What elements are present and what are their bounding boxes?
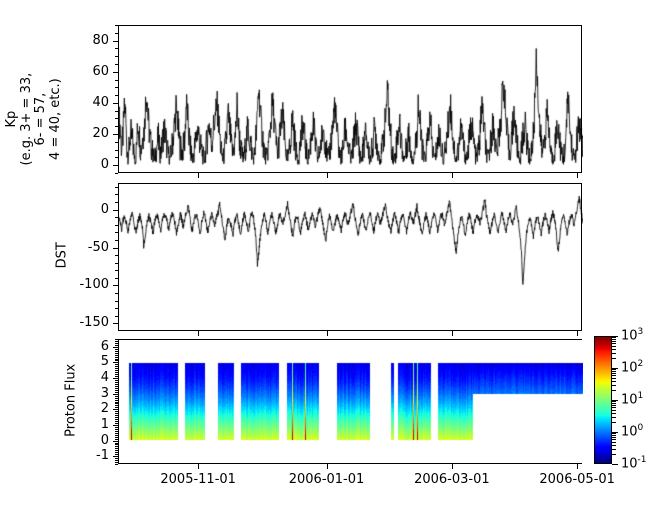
pf-y-tick bbox=[113, 394, 118, 395]
pf-y-minor bbox=[115, 443, 118, 444]
colorbar-minor-tick bbox=[612, 373, 616, 374]
pf-y-minor bbox=[115, 421, 118, 422]
colorbar-minor-tick bbox=[612, 346, 616, 347]
kp-y-minor bbox=[115, 95, 118, 96]
colorbar-minor-tick bbox=[612, 358, 616, 359]
colorbar-minor-tick bbox=[612, 439, 616, 440]
kp-y-minor bbox=[115, 48, 118, 49]
pf-y-minor bbox=[115, 405, 118, 406]
dst-y-minor bbox=[115, 293, 118, 294]
x-tick bbox=[327, 173, 328, 178]
pf-y-minor bbox=[115, 368, 118, 369]
dst-plot-panel bbox=[118, 183, 582, 331]
colorbar bbox=[594, 336, 612, 464]
colorbar-minor-tick bbox=[612, 445, 616, 446]
y-tick-label: 20 bbox=[61, 126, 109, 141]
kp-y-minor bbox=[115, 111, 118, 112]
kp-plot-panel bbox=[118, 25, 582, 173]
x-tick bbox=[452, 173, 453, 178]
colorbar-minor-tick bbox=[612, 417, 616, 418]
pf-y-minor bbox=[115, 423, 118, 424]
dst-y-minor bbox=[115, 263, 118, 264]
pf-y-minor bbox=[115, 411, 118, 412]
colorbar-minor-tick bbox=[612, 454, 616, 455]
pf-y-minor bbox=[115, 448, 118, 449]
kp-y-minor bbox=[115, 157, 118, 158]
kp-y-minor bbox=[115, 142, 118, 143]
pf-y-minor bbox=[115, 388, 118, 389]
pf-y-minor bbox=[115, 345, 118, 346]
colorbar-minor-tick bbox=[612, 381, 616, 382]
pf-y-minor bbox=[115, 413, 118, 414]
pf-y-minor bbox=[115, 417, 118, 418]
pf-y-tick bbox=[113, 409, 118, 410]
pf-y-minor bbox=[115, 437, 118, 438]
pf-y-minor bbox=[115, 384, 118, 385]
x-tick-label: 2006-05-01 bbox=[522, 472, 632, 487]
proton-flux-plot-panel bbox=[118, 339, 582, 464]
pf-y-minor bbox=[115, 454, 118, 455]
dst-y-minor bbox=[115, 308, 118, 309]
x-tick bbox=[198, 331, 199, 336]
colorbar-minor-tick bbox=[612, 353, 616, 354]
colorbar-minor-tick bbox=[612, 401, 616, 402]
y-tick-label: -100 bbox=[61, 277, 109, 292]
pf-y-tick bbox=[113, 362, 118, 363]
colorbar-minor-tick bbox=[612, 410, 616, 411]
colorbar-tick-label: 101 bbox=[621, 391, 643, 407]
pf-y-minor bbox=[115, 341, 118, 342]
colorbar-minor-tick bbox=[612, 337, 616, 338]
pf-y-minor bbox=[115, 439, 118, 440]
y-tick-label: 0 bbox=[61, 433, 109, 448]
colorbar-minor-tick bbox=[612, 369, 616, 370]
colorbar-minor-tick bbox=[612, 403, 616, 404]
y-tick-label: 60 bbox=[61, 64, 109, 79]
pf-y-minor bbox=[115, 392, 118, 393]
pf-y-minor bbox=[115, 435, 118, 436]
figure-root: Kp (e.g. 3+ = 33, 6- = 57, 4 = 40, etc.)… bbox=[0, 0, 665, 523]
dst-y-minor bbox=[115, 316, 118, 317]
y-tick-label: 40 bbox=[61, 95, 109, 110]
x-tick bbox=[577, 173, 578, 178]
pf-y-minor bbox=[115, 355, 118, 356]
kp-y-minor bbox=[115, 56, 118, 57]
kp-axis-label: Kp (e.g. 3+ = 33, 6- = 57, 4 = 40, etc.) bbox=[5, 44, 63, 194]
kp-y-tick bbox=[113, 134, 118, 135]
y-tick-label: 3 bbox=[61, 386, 109, 401]
pf-y-minor bbox=[115, 357, 118, 358]
pf-y-minor bbox=[115, 376, 118, 377]
colorbar-tick-label: 102 bbox=[621, 359, 643, 375]
y-tick-label: -50 bbox=[61, 240, 109, 255]
pf-y-minor bbox=[115, 419, 118, 420]
pf-y-minor bbox=[115, 351, 118, 352]
pf-y-minor bbox=[115, 431, 118, 432]
pf-y-tick bbox=[113, 425, 118, 426]
y-tick-label: 0 bbox=[61, 157, 109, 172]
dst-y-minor bbox=[115, 217, 118, 218]
pf-y-minor bbox=[115, 372, 118, 373]
colorbar-minor-tick bbox=[612, 378, 616, 379]
pf-y-minor bbox=[115, 427, 118, 428]
x-tick bbox=[452, 464, 453, 469]
colorbar-minor-tick bbox=[612, 437, 616, 438]
x-tick bbox=[577, 331, 578, 336]
colorbar-tick-label: 103 bbox=[621, 327, 643, 343]
kp-y-minor bbox=[115, 173, 118, 174]
x-tick-label: 2006-01-01 bbox=[272, 472, 382, 487]
pf-y-minor bbox=[115, 407, 118, 408]
colorbar-minor-tick bbox=[612, 435, 616, 436]
colorbar-minor-tick bbox=[612, 385, 616, 386]
x-tick bbox=[327, 331, 328, 336]
pf-y-minor bbox=[115, 462, 118, 463]
pf-y-minor bbox=[115, 380, 118, 381]
pf-y-minor bbox=[115, 460, 118, 461]
x-tick bbox=[452, 331, 453, 336]
x-tick bbox=[198, 464, 199, 469]
dst-y-minor bbox=[115, 255, 118, 256]
kp-y-tick bbox=[113, 72, 118, 73]
colorbar-tick bbox=[612, 464, 618, 465]
dst-y-minor bbox=[115, 301, 118, 302]
dst-y-tick bbox=[113, 323, 118, 324]
pf-y-minor bbox=[115, 446, 118, 447]
colorbar-minor-tick bbox=[612, 371, 616, 372]
pf-y-minor bbox=[115, 396, 118, 397]
colorbar-minor-tick bbox=[612, 407, 616, 408]
pf-y-minor bbox=[115, 349, 118, 350]
y-tick-label: 4 bbox=[61, 370, 109, 385]
pf-y-minor bbox=[115, 374, 118, 375]
pf-y-minor bbox=[115, 343, 118, 344]
pf-y-minor bbox=[115, 360, 118, 361]
kp-y-minor bbox=[115, 33, 118, 34]
x-tick-label: 2006-03-01 bbox=[397, 472, 507, 487]
pf-y-minor bbox=[115, 433, 118, 434]
colorbar-minor-tick bbox=[612, 442, 616, 443]
y-tick-label: 5 bbox=[61, 354, 109, 369]
pf-y-tick bbox=[113, 456, 118, 457]
dst-y-minor bbox=[115, 278, 118, 279]
pf-y-minor bbox=[115, 382, 118, 383]
pf-y-minor bbox=[115, 444, 118, 445]
pf-y-minor bbox=[115, 390, 118, 391]
pf-y-minor bbox=[115, 366, 118, 367]
pf-y-minor bbox=[115, 400, 118, 401]
colorbar-minor-tick bbox=[612, 375, 616, 376]
dst-y-tick bbox=[113, 285, 118, 286]
pf-y-minor bbox=[115, 339, 118, 340]
y-tick-label: 0 bbox=[61, 202, 109, 217]
pf-y-tick bbox=[113, 378, 118, 379]
dst-y-minor bbox=[115, 187, 118, 188]
kp-y-tick bbox=[113, 165, 118, 166]
colorbar-minor-tick bbox=[612, 390, 616, 391]
dst-y-tick bbox=[113, 210, 118, 211]
kp-y-minor bbox=[115, 87, 118, 88]
pf-y-minor bbox=[115, 370, 118, 371]
dst-y-minor bbox=[115, 225, 118, 226]
dst-y-minor bbox=[115, 194, 118, 195]
colorbar-tick-label: 100 bbox=[621, 423, 643, 439]
pf-y-minor bbox=[115, 458, 118, 459]
pf-y-tick bbox=[113, 347, 118, 348]
pf-y-minor bbox=[115, 452, 118, 453]
kp-y-minor bbox=[115, 80, 118, 81]
pf-y-minor bbox=[115, 415, 118, 416]
colorbar-minor-tick bbox=[612, 349, 616, 350]
kp-y-minor bbox=[115, 126, 118, 127]
pf-y-minor bbox=[115, 398, 118, 399]
colorbar-minor-tick bbox=[612, 405, 616, 406]
y-tick-label: 2 bbox=[61, 401, 109, 416]
x-tick bbox=[198, 173, 199, 178]
pf-y-minor bbox=[115, 353, 118, 354]
pf-y-minor bbox=[115, 359, 118, 360]
pf-y-minor bbox=[115, 450, 118, 451]
kp-y-minor bbox=[115, 64, 118, 65]
colorbar-minor-tick bbox=[612, 343, 616, 344]
pf-y-minor bbox=[115, 403, 118, 404]
pf-y-minor bbox=[115, 402, 118, 403]
colorbar-minor-tick bbox=[612, 413, 616, 414]
colorbar-tick-label: 10-1 bbox=[621, 455, 647, 471]
kp-y-tick bbox=[113, 103, 118, 104]
dst-y-minor bbox=[115, 202, 118, 203]
pf-y-minor bbox=[115, 429, 118, 430]
kp-y-minor bbox=[115, 150, 118, 151]
colorbar-minor-tick bbox=[612, 341, 616, 342]
dst-y-minor bbox=[115, 232, 118, 233]
kp-y-minor bbox=[115, 118, 118, 119]
colorbar-minor-tick bbox=[612, 422, 616, 423]
kp-y-minor bbox=[115, 25, 118, 26]
pf-y-minor bbox=[115, 464, 118, 465]
y-tick-label: -1 bbox=[61, 448, 109, 463]
dst-y-minor bbox=[115, 270, 118, 271]
x-tick bbox=[577, 464, 578, 469]
colorbar-minor-tick bbox=[612, 433, 616, 434]
pf-y-minor bbox=[115, 364, 118, 365]
kp-y-tick bbox=[113, 41, 118, 42]
y-tick-label: -150 bbox=[61, 315, 109, 330]
pf-y-tick bbox=[113, 441, 118, 442]
y-tick-label: 1 bbox=[61, 417, 109, 432]
y-tick-label: 6 bbox=[61, 339, 109, 354]
dst-y-minor bbox=[115, 240, 118, 241]
colorbar-minor-tick bbox=[612, 449, 616, 450]
colorbar-minor-tick bbox=[612, 339, 616, 340]
x-tick bbox=[327, 464, 328, 469]
pf-y-minor bbox=[115, 386, 118, 387]
y-tick-label: 80 bbox=[61, 33, 109, 48]
dst-y-tick bbox=[113, 248, 118, 249]
x-tick-label: 2005-11-01 bbox=[143, 472, 253, 487]
